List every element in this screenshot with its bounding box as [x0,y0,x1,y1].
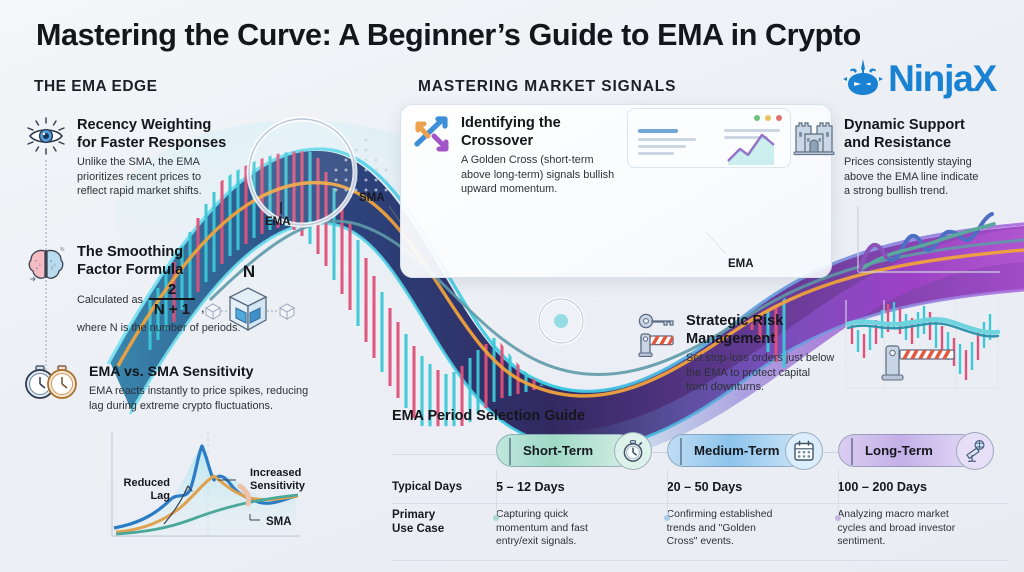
guide-divider-bottom [392,560,1008,561]
fraction-denominator: N + 1 [154,300,190,317]
page-title: Mastering the Curve: A Beginner’s Guide … [36,18,996,53]
guide-tick-long [838,470,839,518]
guide-tick-short [496,470,497,518]
svg-text:%: % [60,247,65,253]
formula-lead: Calculated as [77,294,143,306]
browser-mock-content [628,109,792,169]
calendar-icon [785,432,823,470]
pill-label: Medium-Term [694,443,779,458]
infographic-canvas: Mastering the Curve: A Beginner’s Guide … [0,0,1024,572]
stopwatches-icon [24,363,80,408]
key-barrier-icon [637,312,677,363]
typical-days-long: 100 – 200 Days [837,480,1008,494]
feature-strategic-risk-management: Strategic Risk Management Set stop-loss … [637,312,842,395]
label-reduced-lag: Reduced Lag [110,477,170,503]
label-sma-mini: SMA [266,516,292,528]
guide-title: EMA Period Selection Guide [392,408,1008,424]
section-heading-center: MASTERING MARKET SIGNALS [418,78,676,96]
feature-ema-vs-sma-sensitivity: EMA vs. SMA Sensitivity EMA reacts insta… [24,363,324,413]
guide-tickdot-long [835,515,841,521]
feature-body: Prices consistently staying above the EM… [844,155,978,199]
feature-body: Set stop-loss orders just below the EMA … [686,351,834,395]
risk-management-mini-chart [838,296,1010,396]
guide-row-label-days: Typical Days [392,480,488,494]
wave-label-ema-left: EMA [265,216,291,228]
browser-mockup [627,108,791,168]
brand-name: NinjaX [888,57,996,101]
feature-recency-weighting: Recency Weighting for Faster Responses U… [24,116,274,199]
guide-tickdot-short [493,515,499,521]
key-glyph [639,314,673,327]
crossing-arrows-icon [412,114,452,159]
brand-logo: NinjaX [841,57,996,101]
ninja-helmet-icon [841,57,885,101]
guide-tickdot-medium [664,515,670,521]
svg-text:β: β [51,266,53,270]
guide-pill-medium[interactable]: Medium-Term [667,434,838,472]
section-heading-left: THE EMA EDGE [34,78,157,96]
feature-title: Recency Weighting for Faster Responses [77,117,226,152]
guide-pill-row: Short-Term [392,434,1008,472]
dot-matrix-texture [335,139,388,192]
ema-period-selection-guide: EMA Period Selection Guide Short-Term [392,408,1008,564]
fraction: 2 N + 1 [149,282,195,317]
feature-dynamic-support-resistance: Dynamic Support and Resistance Prices co… [793,116,1008,199]
wave-label-ema-right: EMA [728,258,754,270]
svg-text:α: α [50,259,52,263]
castle-icon [793,116,835,161]
stop-loss-barrier [882,346,954,380]
crossover-lens [539,299,583,343]
support-resistance-mini-chart [848,202,1008,280]
eye-icon [24,116,68,161]
feature-body: A Golden Cross (short-term above long-te… [461,153,614,197]
barrier-glyph [639,334,673,356]
use-case-long: Analyzing macro market cycles and broad … [837,508,1008,549]
svg-text:λ: λ [54,263,56,267]
feature-body: EMA reacts instantly to price spikes, re… [89,384,308,413]
use-case-medium: Confirming established trends and "Golde… [667,508,838,549]
cube-icon [198,282,302,340]
use-case-short: Capturing quick momentum and fast entry/… [496,508,667,549]
guide-pill-short[interactable]: Short-Term [496,434,667,472]
feature-identifying-crossover: Identifying the Crossover A Golden Cross… [412,114,642,197]
feature-title: Strategic Risk Management [686,313,834,348]
cube-group: N [224,262,302,345]
guide-tick-medium [667,470,668,518]
pill-label: Long-Term [865,443,933,458]
feature-body: Unlike the SMA, the EMA prioritizes rece… [77,155,226,199]
feature-title: The Smoothing Factor Formula [77,244,240,279]
typical-days-short: 5 – 12 Days [496,480,667,494]
svg-text:μ: μ [36,266,38,270]
cube-label: N [224,262,274,282]
telescope-icon [956,432,994,470]
stopwatch-icon [614,432,652,470]
guide-days-row: Typical Days 5 – 12 Days 20 – 50 Days 10… [392,480,1008,504]
feature-title: Identifying the Crossover [461,115,614,150]
typical-days-medium: 20 – 50 Days [667,480,838,494]
fraction-numerator: 2 [168,282,176,298]
guide-pill-long[interactable]: Long-Term [838,434,1009,472]
feature-title: EMA vs. SMA Sensitivity [89,364,308,381]
label-increased-sensitivity: Increased Sensitivity [250,467,322,493]
wave-label-sma: SMA [359,192,385,204]
brain-icon: σΣμ αλβ % [24,243,68,292]
feature-title: Dynamic Support and Resistance [844,117,978,152]
pill-label: Short-Term [523,443,593,458]
guide-row-label-usecase: Primary Use Case [392,508,488,536]
